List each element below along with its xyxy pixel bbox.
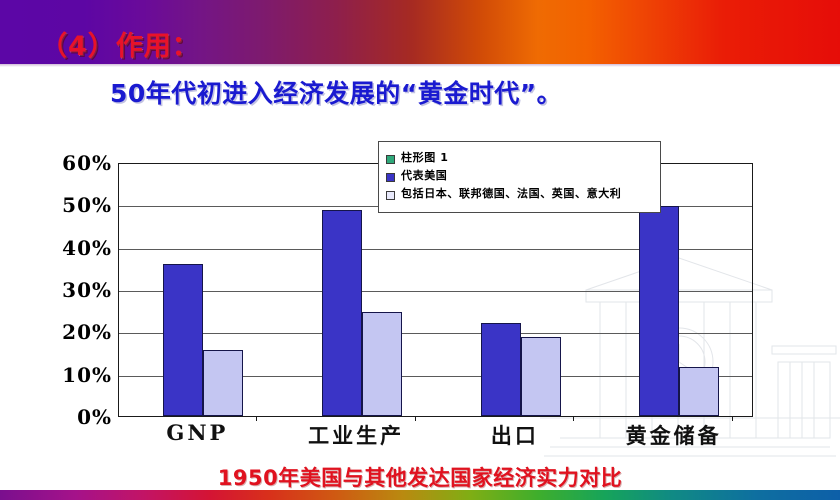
y-axis-tick-label: 20% bbox=[62, 320, 112, 344]
bar bbox=[481, 323, 521, 416]
y-axis-labels: 0%10%20%30%40%50%60% bbox=[32, 130, 112, 395]
legend-swatch-icon bbox=[386, 191, 395, 200]
section-headline: （4）作用： bbox=[40, 24, 200, 63]
x-axis-labels: GNP工业生产出口黄金储备 bbox=[118, 420, 753, 452]
bar bbox=[163, 264, 203, 416]
y-axis-tick-label: 40% bbox=[62, 236, 112, 260]
chart-caption: 1950年美国与其他发达国家经济实力对比 bbox=[0, 462, 840, 492]
legend-label: 代表美国 bbox=[401, 170, 447, 182]
slide: （4）作用： 50年代初进入经济发展的“黄金时代”。 0%10%20%30%40… bbox=[0, 0, 840, 500]
x-axis-tick-label: 出口 bbox=[436, 420, 595, 450]
bar bbox=[322, 210, 362, 416]
legend-swatch-icon bbox=[386, 155, 395, 164]
legend-swatch-icon bbox=[386, 173, 395, 182]
y-axis-tick-label: 0% bbox=[77, 405, 112, 429]
legend-item: 包括日本、联邦德国、法国、英国、意大利 bbox=[386, 188, 654, 200]
bar bbox=[679, 367, 719, 416]
chart-legend: 柱形图 1 代表美国 包括日本、联邦德国、法国、英国、意大利 bbox=[378, 141, 661, 213]
legend-item: 代表美国 bbox=[386, 170, 654, 182]
slide-title: 50年代初进入经济发展的“黄金时代”。 bbox=[110, 74, 562, 110]
y-axis-tick-label: 60% bbox=[62, 151, 112, 175]
y-axis-tick-label: 50% bbox=[62, 193, 112, 217]
bottom-gradient-band bbox=[0, 490, 840, 500]
y-axis-tick-label: 30% bbox=[62, 278, 112, 302]
legend-item: 柱形图 1 bbox=[386, 152, 654, 164]
bar bbox=[639, 206, 679, 416]
y-axis-tick-label: 10% bbox=[62, 363, 112, 387]
top-band-shadow bbox=[0, 64, 840, 67]
bar bbox=[203, 350, 243, 416]
bar bbox=[521, 337, 561, 416]
x-axis-tick-label: 工业生产 bbox=[277, 420, 436, 450]
x-axis-tick-label: 黄金储备 bbox=[594, 420, 753, 450]
bar bbox=[362, 312, 402, 416]
legend-label: 包括日本、联邦德国、法国、英国、意大利 bbox=[401, 188, 621, 200]
legend-label: 柱形图 1 bbox=[401, 152, 448, 164]
x-axis-tick-label: GNP bbox=[118, 420, 277, 445]
